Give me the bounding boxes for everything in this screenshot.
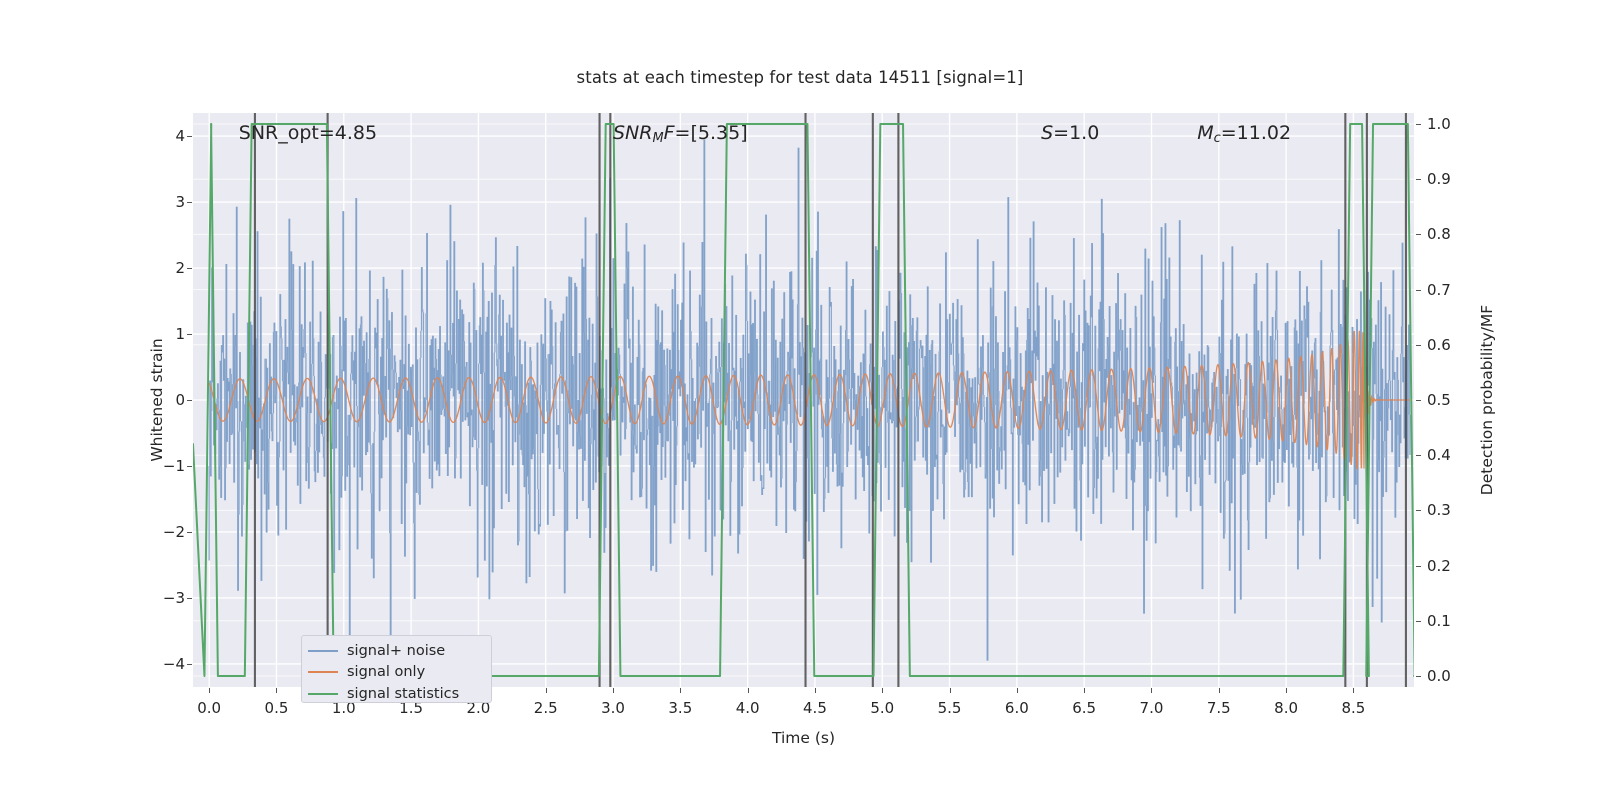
x-tick-mark — [1017, 688, 1018, 693]
legend-item-signal-noise: signal+ noise — [308, 640, 483, 662]
x-tick-mark — [680, 688, 681, 693]
x-tick-mark — [613, 688, 614, 693]
y-tick-mark-left — [187, 400, 192, 401]
plot-traces — [193, 113, 1414, 687]
legend-item-signal-statistics: signal statistics — [308, 683, 483, 705]
x-tick-label: 5.0 — [870, 699, 894, 717]
x-tick-label: 8.0 — [1274, 699, 1298, 717]
x-tick-label: 0.0 — [197, 699, 221, 717]
annotation-snr-mf-value: [5.35] — [690, 122, 747, 144]
x-axis-label: Time (s) — [193, 729, 1414, 747]
x-tick-mark — [276, 688, 277, 693]
x-tick-label: 4.0 — [736, 699, 760, 717]
annotation-snr-mf-label: SNR — [613, 122, 652, 144]
x-tick-mark — [1151, 688, 1152, 693]
chart-legend: signal+ noise signal only signal statist… — [301, 635, 492, 703]
y-tick-label-right: 0.3 — [1427, 501, 1451, 519]
x-tick-mark — [882, 688, 883, 693]
x-tick-mark — [748, 688, 749, 693]
legend-label-signal-noise: signal+ noise — [347, 643, 445, 659]
plot-axes-area — [193, 113, 1414, 687]
y-tick-mark-right — [1416, 676, 1421, 677]
annotation-mc-label: M — [1197, 122, 1213, 144]
y-tick-label-right: 1.0 — [1427, 115, 1451, 133]
y-tick-label-right: 0.1 — [1427, 612, 1451, 630]
x-tick-mark — [1084, 688, 1085, 693]
y-tick-mark-right — [1416, 290, 1421, 291]
annotation-snr-mf-subscript: M — [652, 131, 663, 146]
x-tick-mark — [1353, 688, 1354, 693]
y-tick-label-right: 0.7 — [1427, 281, 1451, 299]
y-tick-label-right: 0.5 — [1427, 391, 1451, 409]
chart-title: stats at each timestep for test data 145… — [0, 68, 1600, 87]
annotation-mc-subscript: c — [1214, 131, 1221, 146]
x-tick-mark — [1219, 688, 1220, 693]
annotation-snr-mf: SNRMF=[5.35] — [613, 124, 748, 146]
y-axis-label-right: Detection probability/MF — [1478, 305, 1496, 495]
x-tick-label: 8.5 — [1341, 699, 1365, 717]
x-tick-mark — [546, 688, 547, 693]
y-tick-label-left: 3 — [159, 193, 185, 211]
x-tick-label: 5.5 — [938, 699, 962, 717]
y-tick-label-left: 4 — [159, 127, 185, 145]
annotation-snr-opt: SNR_opt=4.85 — [239, 124, 377, 143]
x-tick-label: 7.0 — [1140, 699, 1164, 717]
annotation-s-label: S — [1041, 122, 1053, 144]
y-tick-mark-left — [187, 598, 192, 599]
legend-swatch-signal-statistics — [308, 693, 338, 695]
y-tick-mark-right — [1416, 621, 1421, 622]
x-tick-label: 3.5 — [668, 699, 692, 717]
legend-swatch-signal-only — [308, 671, 338, 673]
annotation-snr-opt-label: SNR_opt= — [239, 122, 335, 144]
x-tick-label: 4.5 — [803, 699, 827, 717]
y-tick-label-left: 2 — [159, 259, 185, 277]
y-tick-mark-right — [1416, 510, 1421, 511]
y-axis-label-left: Whitened strain — [148, 338, 166, 461]
y-tick-mark-left — [187, 334, 192, 335]
y-tick-label-right: 0.8 — [1427, 225, 1451, 243]
y-tick-mark-right — [1416, 400, 1421, 401]
y-tick-mark-right — [1416, 455, 1421, 456]
x-tick-label: 0.5 — [265, 699, 289, 717]
annotation-chirp-mass: Mc=11.02 — [1197, 124, 1291, 146]
y-tick-label-left: −4 — [159, 655, 185, 673]
y-tick-label-right: 0.2 — [1427, 557, 1451, 575]
annotation-s-stat: S=1.0 — [1041, 124, 1099, 143]
y-tick-label-left: −2 — [159, 523, 185, 541]
x-tick-label: 7.5 — [1207, 699, 1231, 717]
y-tick-label-right: 0.9 — [1427, 170, 1451, 188]
y-tick-label-right: 0.0 — [1427, 667, 1451, 685]
annotation-snr-mf-label2: F= — [664, 122, 691, 144]
x-tick-mark — [209, 688, 210, 693]
x-tick-mark — [950, 688, 951, 693]
matplotlib-figure: stats at each timestep for test data 145… — [0, 0, 1600, 800]
annotation-snr-opt-value: 4.85 — [335, 122, 377, 144]
annotation-s-value: =1.0 — [1053, 122, 1099, 144]
y-tick-mark-left — [187, 136, 192, 137]
y-tick-mark-left — [187, 268, 192, 269]
y-tick-mark-right — [1416, 179, 1421, 180]
x-tick-label: 3.0 — [601, 699, 625, 717]
x-tick-label: 6.5 — [1072, 699, 1096, 717]
y-tick-label-right: 0.6 — [1427, 336, 1451, 354]
y-tick-mark-left — [187, 466, 192, 467]
legend-item-signal-only: signal only — [308, 662, 483, 684]
legend-label-signal-statistics: signal statistics — [347, 686, 459, 702]
x-tick-label: 6.0 — [1005, 699, 1029, 717]
legend-swatch-signal-noise — [308, 650, 338, 652]
y-tick-mark-left — [187, 532, 192, 533]
annotation-mc-value: =11.02 — [1221, 122, 1291, 144]
y-tick-mark-right — [1416, 234, 1421, 235]
legend-label-signal-only: signal only — [347, 664, 425, 680]
y-tick-mark-right — [1416, 566, 1421, 567]
y-tick-mark-left — [187, 664, 192, 665]
y-tick-mark-right — [1416, 124, 1421, 125]
y-tick-label-left: −3 — [159, 589, 185, 607]
y-tick-mark-right — [1416, 345, 1421, 346]
y-tick-label-right: 0.4 — [1427, 446, 1451, 464]
x-tick-label: 2.5 — [534, 699, 558, 717]
x-tick-mark — [1286, 688, 1287, 693]
x-tick-mark — [815, 688, 816, 693]
y-tick-mark-left — [187, 202, 192, 203]
